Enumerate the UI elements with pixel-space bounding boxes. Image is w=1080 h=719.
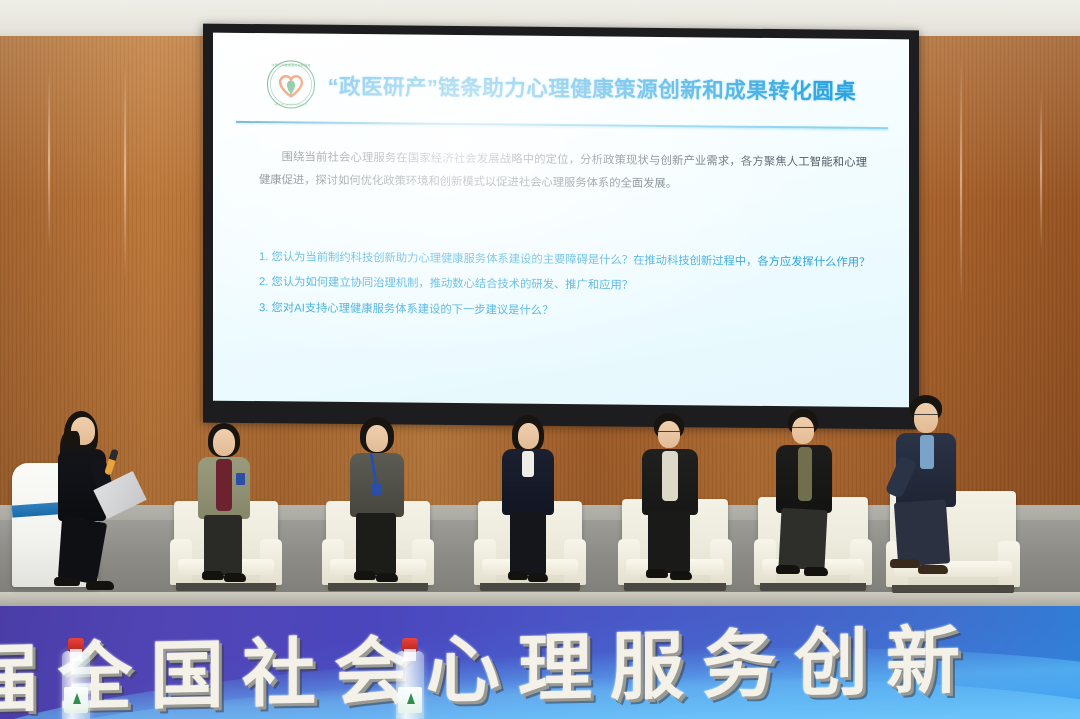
panelist-seat-1 bbox=[12, 395, 152, 595]
legs-crossed bbox=[778, 508, 827, 570]
shoe-left bbox=[646, 569, 668, 578]
shoe-right bbox=[376, 573, 398, 582]
head bbox=[213, 429, 235, 456]
glasses-icon bbox=[913, 414, 939, 420]
shoe-left bbox=[890, 559, 920, 568]
svg-text:MENTAL HEALTH SERVICE: MENTAL HEALTH SERVICE bbox=[274, 102, 307, 106]
glasses-icon bbox=[791, 427, 815, 433]
projection-screen-frame: 中国心理健康服务创新联盟 MENTAL HEALTH SERVICE “政医研产… bbox=[203, 24, 919, 429]
slide-title-divider bbox=[236, 121, 888, 129]
mental-health-association-emblem-icon: 中国心理健康服务创新联盟 MENTAL HEALTH SERVICE bbox=[266, 59, 316, 109]
shoe-right bbox=[670, 571, 692, 580]
bottle-neck bbox=[70, 649, 82, 661]
panelist-2-figure bbox=[194, 421, 284, 589]
shoe-left bbox=[54, 577, 80, 586]
legs bbox=[648, 511, 690, 573]
panelist-seat-4 bbox=[474, 415, 594, 595]
panelist-seat-5 bbox=[618, 411, 742, 595]
panelist-seat-7 bbox=[880, 395, 1030, 595]
wall-grain-streak bbox=[960, 55, 962, 305]
shoe-right bbox=[804, 567, 828, 576]
svg-text:中国心理健康服务创新联盟: 中国心理健康服务创新联盟 bbox=[271, 62, 311, 67]
name-badge bbox=[236, 473, 245, 485]
slide-paragraph: 围绕当前社会心理服务在国家经济社会发展战略中的定位，分析政策现状与创新产业需求，… bbox=[259, 146, 867, 197]
inner-burgundy-top bbox=[216, 459, 232, 511]
event-backdrop-banner: 届全国社会心理服务创新 bbox=[0, 606, 1080, 719]
slide-title: “政医研产”链条助力心理健康策源创新和成果转化圆桌 bbox=[328, 69, 857, 105]
bottle-label bbox=[398, 687, 422, 713]
inner-olive-shirt bbox=[798, 447, 812, 501]
inner-light-sweater bbox=[662, 451, 678, 501]
shoe-left bbox=[508, 571, 528, 580]
panelist-7-figure bbox=[894, 395, 1004, 591]
moderator-figure bbox=[46, 405, 156, 595]
legs bbox=[204, 515, 242, 575]
shoe-right bbox=[528, 573, 548, 582]
glasses-icon bbox=[657, 431, 681, 437]
head bbox=[518, 423, 539, 449]
inner-white-top bbox=[522, 451, 534, 477]
microphone bbox=[104, 449, 119, 476]
legs bbox=[356, 513, 396, 575]
shoe-left bbox=[202, 571, 224, 580]
slide-header: 中国心理健康服务创新联盟 MENTAL HEALTH SERVICE “政医研产… bbox=[213, 53, 909, 122]
panelist-5-figure bbox=[640, 413, 734, 589]
conference-photo-scene: 中国心理健康服务创新联盟 MENTAL HEALTH SERVICE “政医研产… bbox=[0, 0, 1080, 719]
projection-screen: 中国心理健康服务创新联盟 MENTAL HEALTH SERVICE “政医研产… bbox=[213, 33, 909, 423]
shoe-left bbox=[354, 571, 376, 580]
wall-grain-streak bbox=[48, 70, 50, 250]
wall-grain-streak bbox=[124, 60, 126, 280]
shoe-right bbox=[918, 565, 948, 574]
badge bbox=[372, 483, 381, 495]
legs-crossed bbox=[894, 499, 950, 566]
wall-grain-streak bbox=[1040, 90, 1042, 250]
panelist-6-figure bbox=[774, 409, 874, 589]
panelist-3-figure bbox=[348, 417, 438, 589]
inner-blue-shirt bbox=[920, 435, 934, 469]
head bbox=[366, 425, 388, 452]
panelist-seat-3 bbox=[322, 415, 442, 595]
slide-question-3: 3. 您对AI支持心理健康服务体系建设的下一步建议是什么？ bbox=[259, 296, 879, 327]
bottle-label bbox=[64, 687, 88, 713]
bottle-neck bbox=[404, 649, 416, 661]
shoe-left bbox=[776, 565, 800, 574]
panelist-seat-6 bbox=[754, 407, 884, 595]
banner-title-text: 届全国社会心理服务创新 bbox=[0, 606, 1080, 719]
panelist-row bbox=[0, 380, 1080, 595]
water-bottle bbox=[396, 651, 424, 719]
panelist-4-figure bbox=[502, 415, 588, 589]
slide-question-list: 1. 您认为当前制约科技创新助力心理健康服务体系建设的主要障碍是什么？在推动科技… bbox=[259, 245, 879, 327]
shoe-right bbox=[86, 581, 114, 590]
water-bottle bbox=[62, 651, 90, 719]
shoe-right bbox=[224, 573, 246, 582]
panelist-seat-2 bbox=[170, 415, 290, 595]
legs bbox=[510, 511, 546, 575]
